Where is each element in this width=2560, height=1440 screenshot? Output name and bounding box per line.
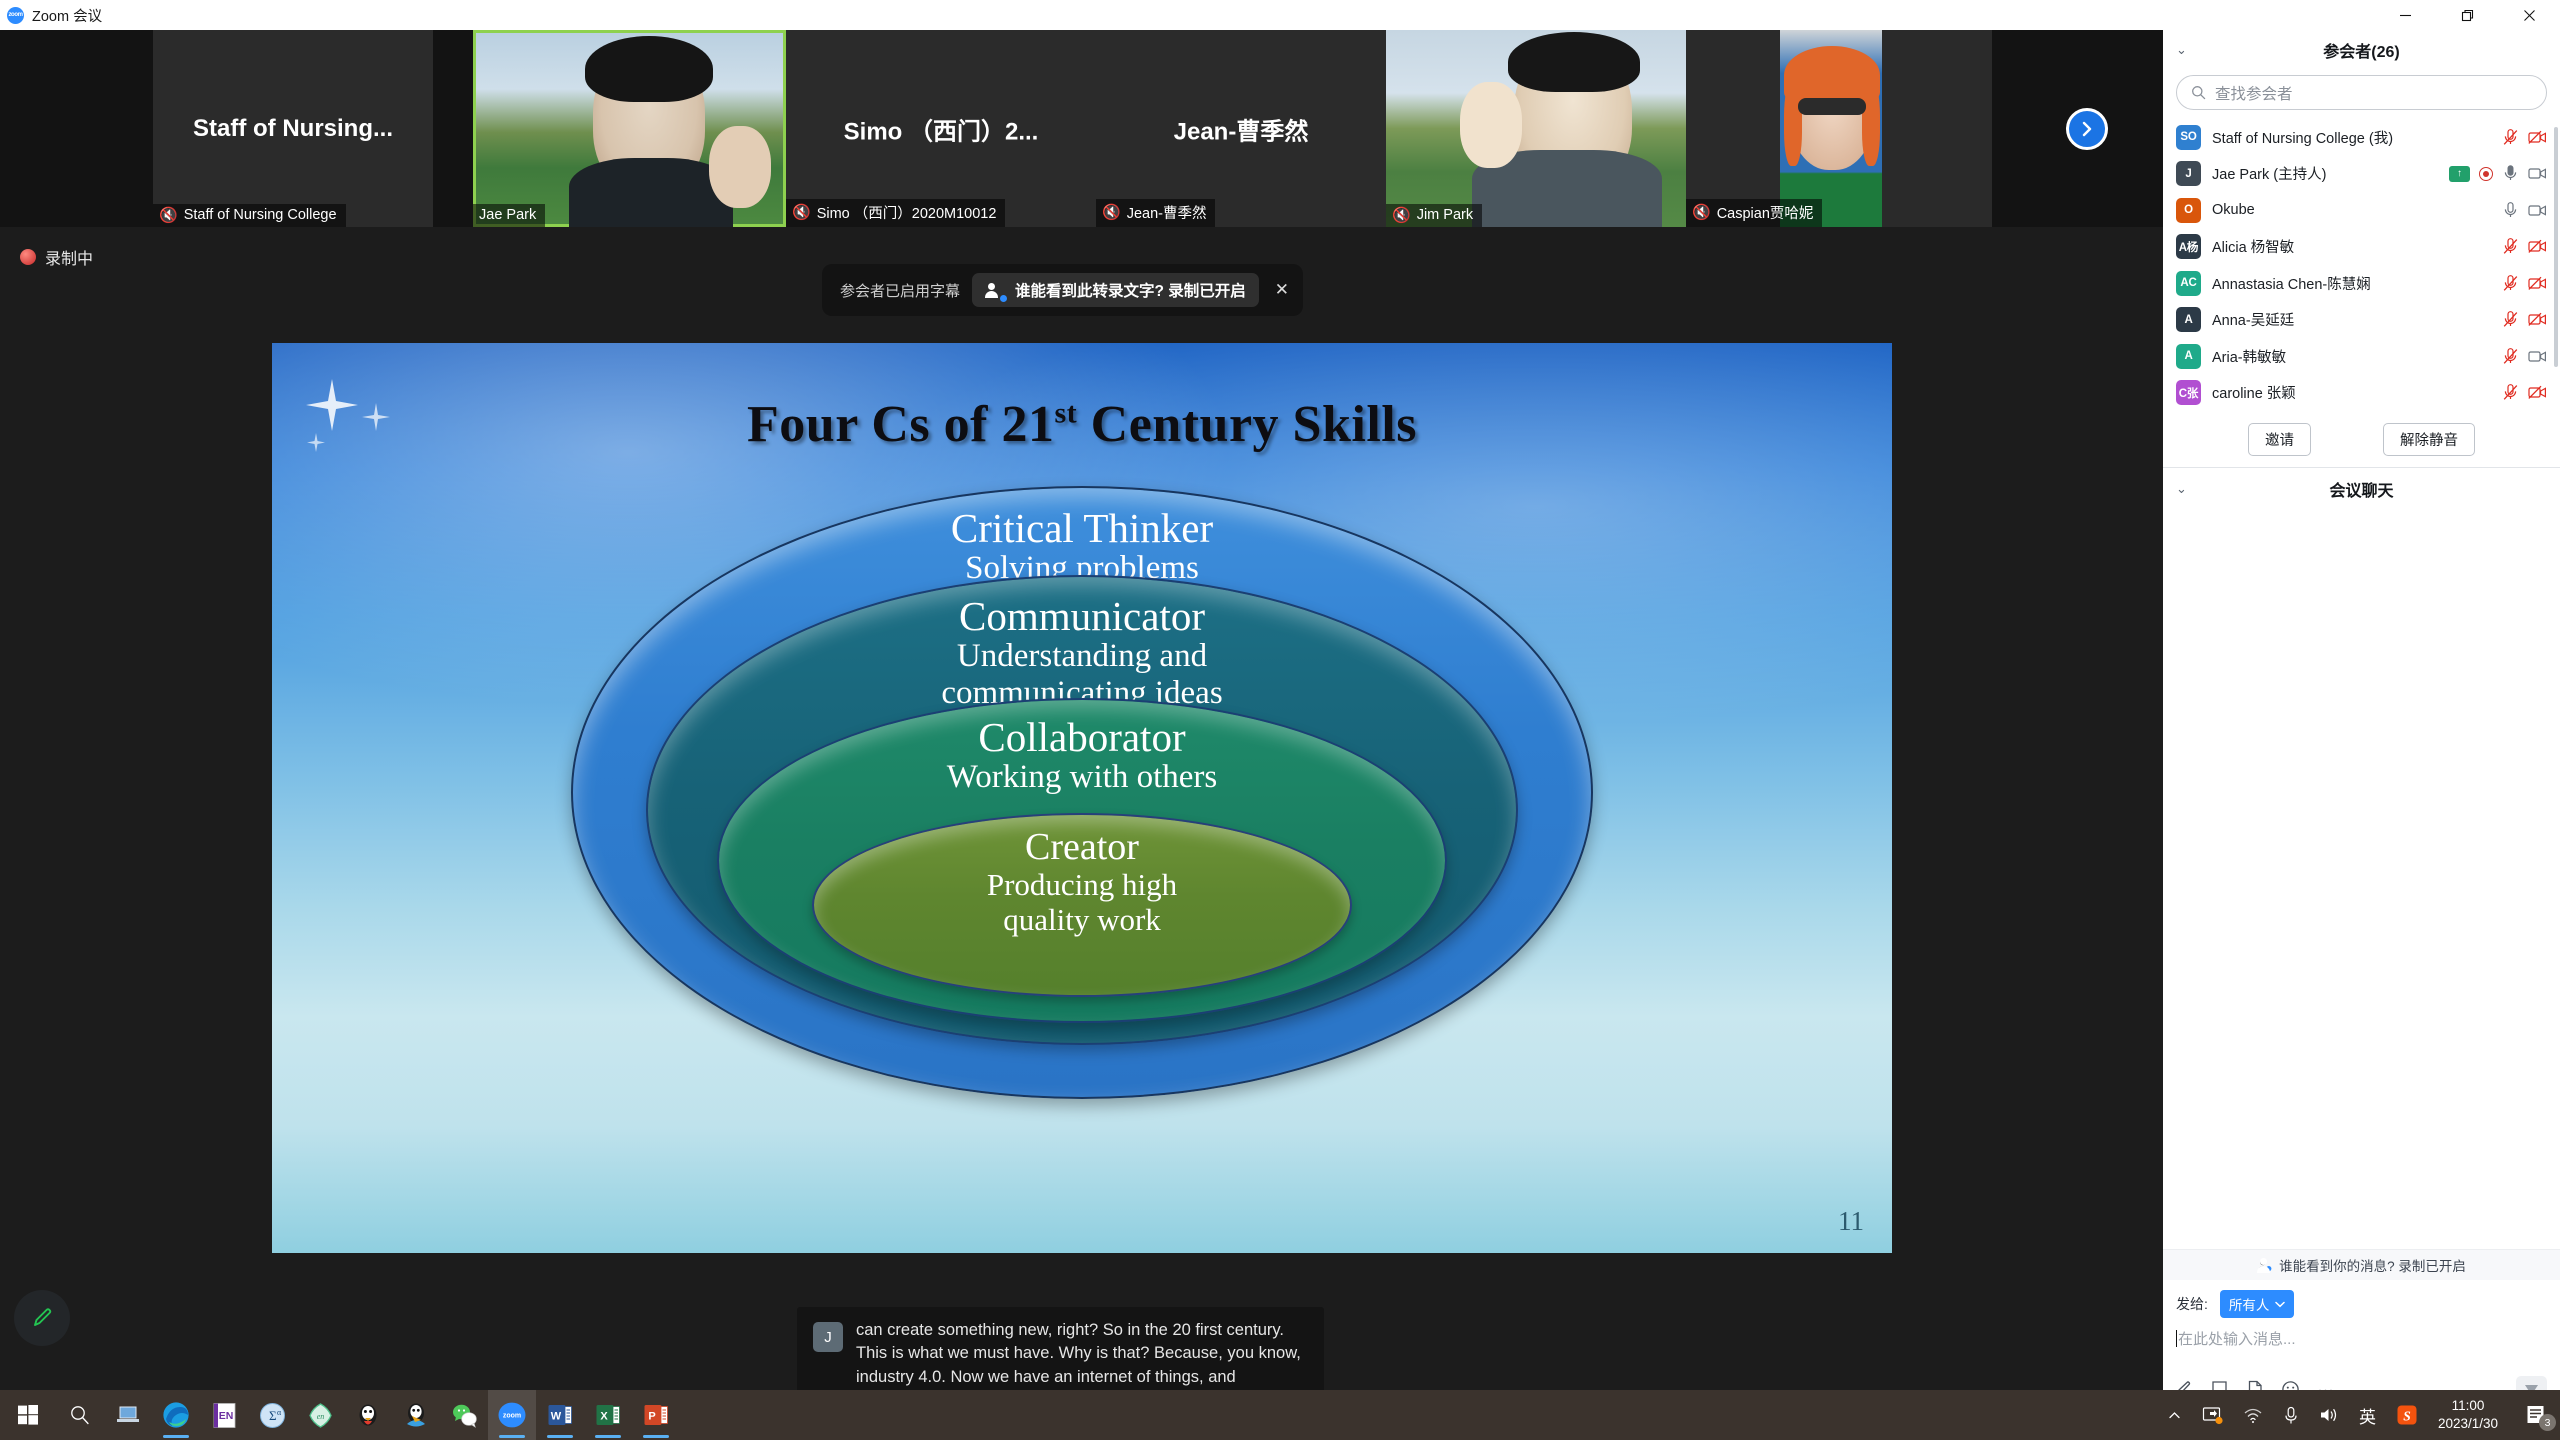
participant-name: Annastasia Chen-陈慧娴 [2212, 273, 2371, 294]
svg-text:en: en [316, 1412, 324, 1421]
participant-avatar: C张 [2176, 380, 2201, 405]
task-view-icon [116, 1404, 140, 1426]
camera-off-icon[interactable] [2528, 385, 2547, 400]
mic-muted-icon: 🔇 [1102, 205, 1121, 220]
clock-time: 11:00 [2438, 1397, 2498, 1415]
mic-muted-icon: 🔇 [159, 208, 178, 223]
zoom-logo-icon: zoom [7, 7, 24, 24]
word-icon: W [547, 1402, 573, 1428]
caption-notice-banner: 参会者已启用字幕 谁能看到此转录文字? 录制已开启 ✕ [822, 264, 1303, 316]
mic-muted-icon: 🔇 [1392, 208, 1411, 223]
tile-badge-name: Simo （西门）2020M10012 [817, 202, 997, 223]
mic-muted-icon[interactable] [2502, 238, 2519, 255]
search-button[interactable] [56, 1390, 104, 1440]
camera-icon[interactable] [2528, 203, 2547, 218]
participant-name: Aria-韩敏敏 [2212, 346, 2286, 367]
mic-muted-icon[interactable] [2502, 129, 2519, 146]
chat-notice-text: 谁能看到你的消息? 录制已开启 [2279, 1255, 2466, 1275]
powerpoint-app[interactable]: P [632, 1390, 680, 1440]
edge-icon [162, 1401, 190, 1429]
camera-off-icon[interactable] [2528, 276, 2547, 291]
unmute-button[interactable]: 解除静音 [2383, 423, 2475, 456]
endnote-web-app[interactable]: en [296, 1390, 344, 1440]
layer-heading: Critical Thinker [951, 506, 1213, 550]
endnote-app[interactable]: EN [200, 1390, 248, 1440]
mic-icon[interactable] [2502, 202, 2519, 219]
powerpoint-icon: P [643, 1402, 669, 1428]
chat-collapse-icon[interactable]: ⌄ [2176, 481, 2187, 497]
video-tile[interactable]: Simo （西门）2... 🔇 Simo （西门）2020M10012 [786, 30, 1096, 227]
svg-text:Σ: Σ [269, 1408, 277, 1423]
display-cast-icon[interactable] [2192, 1390, 2233, 1440]
start-button[interactable] [0, 1390, 56, 1440]
tile-display-name: Simo （西门）2... [786, 111, 1096, 146]
participants-search-wrapper: 查找参会者 [2163, 70, 2560, 119]
participant-status-icons [2502, 348, 2547, 365]
participant-status-icons [2502, 129, 2547, 146]
participant-status-icons: ↑ [2449, 165, 2547, 182]
recording-dot-icon [20, 249, 36, 265]
participants-scrollbar[interactable] [2554, 127, 2558, 367]
participant-row[interactable]: JJae Park (主持人)↑ [2163, 156, 2560, 193]
participant-status-icons [2502, 238, 2547, 255]
chat-panel-title: 会议聊天 [2163, 477, 2560, 501]
svg-text:S: S [2403, 1409, 2411, 1424]
tile-display-name: Staff of Nursing... [153, 115, 433, 143]
right-side-panel: ⌄ 参会者(26) 查找参会者 SOStaff of Nursing Colle… [2163, 30, 2560, 1410]
video-tile[interactable]: Jae Park [473, 30, 786, 227]
tim-icon [403, 1402, 429, 1428]
layer-heading: Communicator [959, 594, 1205, 638]
recording-label: 录制中 [45, 245, 93, 269]
qq-app[interactable] [344, 1390, 392, 1440]
mathtype-app[interactable]: Σα [248, 1390, 296, 1440]
notification-center-button[interactable]: 3 [2512, 1390, 2560, 1440]
chat-message-area[interactable] [2163, 510, 2560, 1249]
text-caret [2176, 1330, 2177, 1347]
word-app[interactable]: W [536, 1390, 584, 1440]
chat-send-to-row: 发给: 所有人 [2176, 1290, 2547, 1318]
caption-pill-text: 谁能看到此转录文字? 录制已开启 [1015, 279, 1246, 301]
wifi-icon[interactable] [2233, 1390, 2273, 1440]
video-tile[interactable]: Jean-曹季然 🔇 Jean-曹季然 [1096, 30, 1386, 227]
tile-badge-name: Jae Park [479, 207, 536, 223]
microphone-icon[interactable] [2273, 1390, 2309, 1440]
sogou-input-icon[interactable]: S [2386, 1390, 2428, 1440]
pencil-icon [29, 1305, 55, 1331]
participant-row[interactable]: AAnna-吴延廷 [2163, 302, 2560, 339]
camera-off-icon[interactable] [2528, 130, 2547, 145]
tile-badge-name: Jean-曹季然 [1127, 202, 1207, 223]
participant-avatar: SO [2176, 125, 2201, 150]
mathtype-icon: Σα [259, 1402, 286, 1429]
tile-display-name: Jean-曹季然 [1096, 111, 1386, 146]
volume-icon[interactable] [2309, 1390, 2349, 1440]
annotate-button[interactable] [14, 1290, 70, 1346]
slide-layer-creator: Creator Producing high quality work [812, 813, 1352, 997]
participant-avatar: A [2176, 307, 2201, 332]
tile-name-badge: 🔇 Staff of Nursing College [153, 204, 346, 227]
slide-title-tail: Century Skills [1077, 396, 1417, 453]
send-to-value: 所有人 [2229, 1294, 2270, 1314]
camera-off-icon[interactable] [2528, 312, 2547, 327]
participant-row[interactable]: CCaspian贾哈妮 [2163, 411, 2560, 414]
chat-panel-header: ⌄ 会议聊天 [2163, 468, 2560, 510]
participant-row[interactable]: ACAnnastasia Chen-陈慧娴 [2163, 265, 2560, 302]
person-icon [2257, 1258, 2272, 1273]
mic-muted-icon: 🔇 [792, 205, 811, 220]
mic-muted-icon[interactable] [2502, 348, 2519, 365]
chat-message-input[interactable]: 在此处输入消息... [2176, 1328, 2547, 1349]
participant-row[interactable]: A杨Alicia 杨智敏 [2163, 229, 2560, 266]
window-controls [2374, 0, 2560, 30]
zoom-meeting-window: zoom Zoom 会议 Staff of Nursing... 🔇 Staff… [0, 0, 2560, 1440]
maximize-button[interactable] [2436, 0, 2498, 30]
video-tile[interactable]: Staff of Nursing... 🔇 Staff of Nursing C… [153, 30, 433, 227]
participant-row[interactable]: OOkube [2163, 192, 2560, 229]
endnote-icon: EN [211, 1402, 238, 1429]
tile-name-badge: 🔇 Jim Park [1386, 204, 1482, 227]
mic-muted-icon[interactable] [2502, 384, 2519, 401]
zoom-app[interactable]: zoom [488, 1390, 536, 1440]
mic-muted-icon: 🔇 [1692, 205, 1711, 220]
zoom-icon: zoom [497, 1400, 527, 1430]
svg-text:W: W [551, 1411, 562, 1423]
participant-status-icons [2502, 202, 2547, 219]
notification-count-badge: 3 [2539, 1414, 2556, 1431]
chevron-down-icon [2275, 1301, 2285, 1308]
participant-name: Anna-吴延廷 [2212, 309, 2294, 330]
transcript-avatar: J [813, 1322, 843, 1352]
tile-name-badge: Jae Park [473, 204, 545, 227]
participants-list[interactable]: SOStaff of Nursing College (我)JJae Park … [2163, 119, 2560, 414]
slide-title: Four Cs of 21st Century Skills [272, 395, 1892, 454]
participant-avatar: O [2176, 198, 2201, 223]
participant-row[interactable]: C张caroline 张颖 [2163, 375, 2560, 412]
wechat-icon [451, 1402, 478, 1429]
slide-page-number: 11 [1838, 1206, 1864, 1237]
participants-search-input[interactable]: 查找参会者 [2176, 75, 2547, 110]
host-badge-icon: ↑ [2449, 166, 2470, 182]
send-to-dropdown[interactable]: 所有人 [2220, 1290, 2295, 1318]
system-tray: 英 S 11:00 2023/1/30 3 [2157, 1390, 2560, 1440]
meeting-main-area: Staff of Nursing... 🔇 Staff of Nursing C… [0, 30, 2163, 1410]
caption-notice-left-text: 参会者已启用字幕 [840, 280, 960, 301]
slide-title-main: Four Cs of 21 [747, 396, 1054, 453]
tile-badge-name: Jim Park [1417, 207, 1473, 223]
chevron-up-icon[interactable] [2157, 1390, 2192, 1440]
ime-indicator[interactable]: 英 [2349, 1390, 2386, 1440]
task-view-button[interactable] [104, 1390, 152, 1440]
filmstrip-next-button[interactable] [2066, 108, 2108, 150]
shared-screen-slide[interactable]: Four Cs of 21st Century Skills Critical … [272, 343, 1892, 1253]
tile-name-badge: 🔇 Caspian贾哈妮 [1686, 199, 1822, 227]
clock-date: 2023/1/30 [2438, 1415, 2498, 1433]
participant-row[interactable]: AAria-韩敏敏 [2163, 338, 2560, 375]
participant-avatar: AC [2176, 271, 2201, 296]
tim-app[interactable] [392, 1390, 440, 1440]
mic-muted-icon[interactable] [2502, 275, 2519, 292]
recording-status-icon [2479, 167, 2493, 181]
participants-search-placeholder: 查找参会者 [2215, 82, 2293, 104]
close-button[interactable] [2498, 0, 2560, 30]
wechat-app[interactable] [440, 1390, 488, 1440]
svg-text:EN: EN [218, 1410, 233, 1422]
window-title: Zoom 会议 [32, 5, 102, 26]
caption-notice-close-icon[interactable]: ✕ [1275, 280, 1289, 300]
participant-name: Staff of Nursing College (我) [2212, 127, 2393, 148]
camera-icon[interactable] [2528, 166, 2547, 181]
participant-status-icons [2502, 275, 2547, 292]
participant-row[interactable]: SOStaff of Nursing College (我) [2163, 119, 2560, 156]
participant-status-icons [2502, 384, 2547, 401]
participants-collapse-icon[interactable]: ⌄ [2176, 42, 2187, 58]
chat-privacy-notice[interactable]: 谁能看到你的消息? 录制已开启 [2163, 1249, 2560, 1280]
slide-title-superscript: st [1054, 397, 1077, 430]
svg-text:zoom: zoom [503, 1413, 521, 1420]
windows-taskbar: EN Σα en zoom W X P [0, 1390, 2560, 1440]
chat-input-placeholder: 在此处输入消息... [2178, 1331, 2296, 1348]
participant-name: Alicia 杨智敏 [2212, 236, 2294, 257]
send-to-label: 发给: [2176, 1294, 2208, 1314]
layer-subtext: Producing high quality work [987, 868, 1177, 937]
window-title-bar: zoom Zoom 会议 [0, 0, 2560, 30]
layer-subtext: Working with others [947, 759, 1217, 796]
invite-button[interactable]: 邀请 [2248, 423, 2311, 456]
camera-icon[interactable] [2528, 349, 2547, 364]
video-filmstrip: Staff of Nursing... 🔇 Staff of Nursing C… [0, 30, 2163, 227]
participants-action-row: 邀请 解除静音 [2163, 414, 2560, 467]
endnote-web-icon: en [307, 1402, 334, 1429]
svg-text:X: X [600, 1411, 608, 1423]
mic-muted-icon[interactable] [2502, 311, 2519, 328]
participant-status-icons [2502, 311, 2547, 328]
search-icon [69, 1404, 91, 1426]
participant-avatar: J [2176, 161, 2201, 186]
qq-icon [355, 1402, 381, 1428]
tile-name-badge: 🔇 Simo （西门）2020M10012 [786, 199, 1005, 227]
person-status-dot-icon [1000, 295, 1007, 302]
participant-name: Jae Park (主持人) [2212, 163, 2326, 184]
caption-privacy-pill[interactable]: 谁能看到此转录文字? 录制已开启 [972, 273, 1259, 307]
excel-app[interactable]: X [584, 1390, 632, 1440]
search-icon [2191, 85, 2206, 100]
excel-icon: X [595, 1402, 621, 1428]
layer-heading: Collaborator [978, 715, 1185, 759]
participant-avatar: A [2176, 344, 2201, 369]
edge-app[interactable] [152, 1390, 200, 1440]
taskbar-clock[interactable]: 11:00 2023/1/30 [2428, 1397, 2512, 1433]
tile-badge-name: Caspian贾哈妮 [1717, 202, 1814, 223]
minimize-button[interactable] [2374, 0, 2436, 30]
windows-logo-icon [18, 1405, 38, 1425]
svg-text:P: P [648, 1411, 655, 1423]
tile-name-badge: 🔇 Jean-曹季然 [1096, 199, 1215, 227]
recording-indicator[interactable]: 录制中 [20, 245, 93, 269]
participant-avatar: A杨 [2176, 234, 2201, 259]
video-tile[interactable]: 🔇 Jim Park [1386, 30, 1686, 227]
mic-icon[interactable] [2502, 165, 2519, 182]
participant-name: Okube [2212, 202, 2255, 218]
participants-panel-title: 参会者(26) [2163, 38, 2560, 62]
layer-heading: Creator [1025, 827, 1139, 868]
person-icon [985, 283, 1000, 298]
video-tile[interactable]: 🔇 Caspian贾哈妮 [1686, 30, 1992, 227]
camera-off-icon[interactable] [2528, 239, 2547, 254]
tile-badge-name: Staff of Nursing College [184, 207, 337, 223]
participant-name: caroline 张颖 [2212, 382, 2296, 403]
participants-panel-header: ⌄ 参会者(26) [2163, 30, 2560, 70]
